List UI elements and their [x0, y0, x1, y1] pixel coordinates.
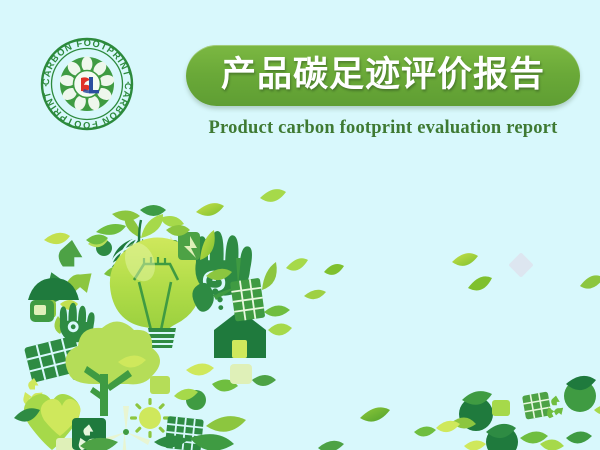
report-cover-page: CARBON FOOTPRINT · CARBON FOOTPRINT ·	[0, 0, 600, 450]
page-subtitle: Product carbon footprint evaluation repo…	[186, 118, 580, 139]
carbon-footprint-seal-logo: CARBON FOOTPRINT · CARBON FOOTPRINT ·	[39, 36, 135, 132]
eco-icon-footprint-collage	[0, 170, 600, 450]
cover-header: CARBON FOOTPRINT · CARBON FOOTPRINT ·	[0, 0, 600, 165]
eco-icon-cluster-bottom-right	[414, 376, 600, 450]
report-title-banner: 产品碳足迹评价报告	[186, 45, 580, 106]
sun-icon	[130, 398, 170, 438]
page-title: 产品碳足迹评价报告	[221, 58, 545, 93]
solar-panel-icon	[230, 278, 265, 322]
